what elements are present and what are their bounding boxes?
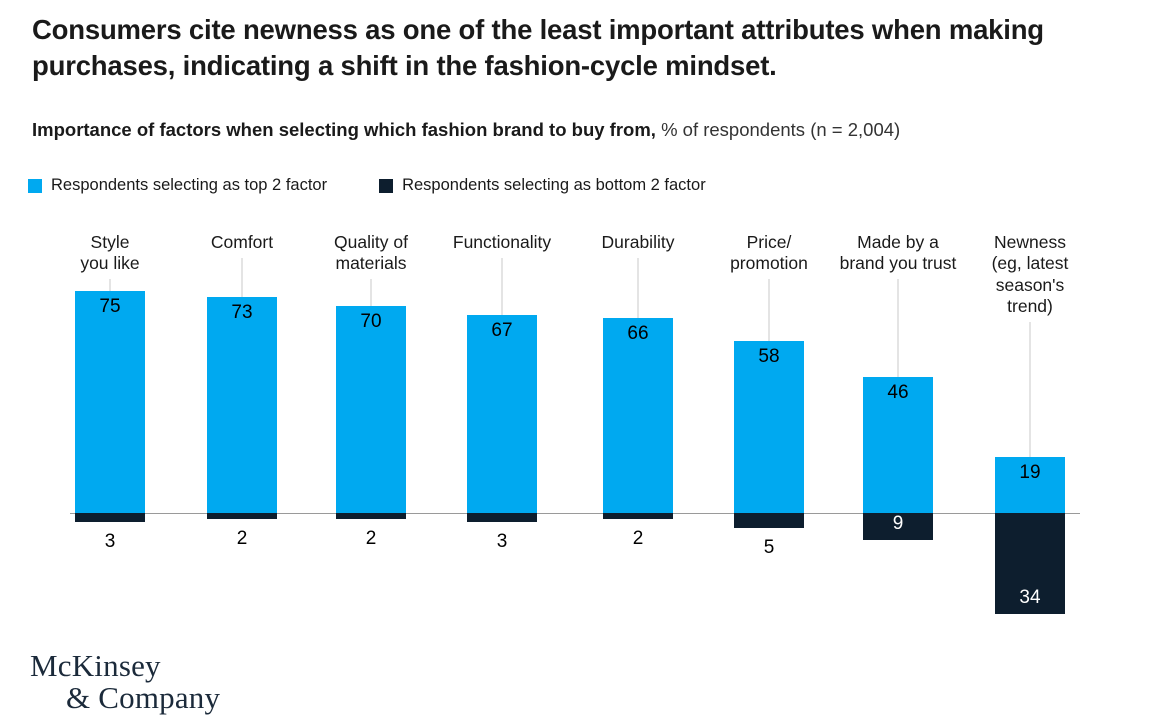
legend-swatch-top2-icon bbox=[28, 179, 42, 193]
logo-line-1: McKinsey bbox=[30, 650, 220, 682]
bar-segment-bottom2[interactable] bbox=[734, 513, 804, 528]
bar-value-bottom2: 9 bbox=[863, 514, 933, 533]
leader-line bbox=[769, 279, 770, 341]
bar-value-top2: 75 bbox=[75, 297, 145, 316]
category-label: Quality of materials bbox=[293, 232, 449, 275]
category-label: Comfort bbox=[164, 232, 320, 253]
bar-group: Quality of materials702 bbox=[293, 0, 449, 726]
bar-segment-top2[interactable]: 19 bbox=[995, 457, 1065, 513]
category-label: Durability bbox=[560, 232, 716, 253]
bar-value-top2: 67 bbox=[467, 321, 537, 340]
bar-group: Functionality673 bbox=[424, 0, 580, 726]
bar-group: Comfort732 bbox=[164, 0, 320, 726]
category-label: Made by a brand you trust bbox=[820, 232, 976, 275]
bar-value-bottom2: 2 bbox=[207, 529, 277, 548]
bar-segment-bottom2[interactable] bbox=[603, 513, 673, 519]
bar-value-top2: 73 bbox=[207, 303, 277, 322]
bar-segment-bottom2[interactable]: 9 bbox=[863, 513, 933, 540]
plot-area: Style you like753Comfort732Quality of ma… bbox=[0, 0, 1160, 726]
bar-value-top2: 66 bbox=[603, 324, 673, 343]
chart-page: Consumers cite newness as one of the lea… bbox=[0, 0, 1160, 726]
bar-value-top2: 19 bbox=[995, 463, 1065, 482]
leader-line bbox=[638, 258, 639, 318]
legend-item-top2: Respondents selecting as top 2 factor bbox=[28, 176, 327, 195]
leader-line bbox=[1030, 322, 1031, 457]
subtitle-bold: Importance of factors when selecting whi… bbox=[32, 119, 656, 140]
legend-swatch-bottom2-icon bbox=[379, 179, 393, 193]
category-label: Functionality bbox=[424, 232, 580, 253]
bar-group: Style you like753 bbox=[32, 0, 188, 726]
mckinsey-logo: McKinsey & Company bbox=[30, 650, 220, 714]
bar-value-top2: 70 bbox=[336, 312, 406, 331]
leader-line bbox=[242, 258, 243, 297]
bar-group: Durability662 bbox=[560, 0, 716, 726]
bar-segment-top2[interactable]: 58 bbox=[734, 341, 804, 513]
bar-value-bottom2: 3 bbox=[75, 532, 145, 551]
bar-segment-bottom2[interactable] bbox=[207, 513, 277, 519]
category-label: Style you like bbox=[32, 232, 188, 275]
bar-segment-top2[interactable]: 70 bbox=[336, 306, 406, 513]
bar-value-top2: 58 bbox=[734, 347, 804, 366]
leader-line bbox=[110, 279, 111, 291]
category-label: Price/ promotion bbox=[691, 232, 847, 275]
legend-label-top2: Respondents selecting as top 2 factor bbox=[51, 176, 327, 195]
bar-segment-top2[interactable]: 66 bbox=[603, 318, 673, 513]
bar-segment-bottom2[interactable] bbox=[336, 513, 406, 519]
bar-group: Made by a brand you trust469 bbox=[820, 0, 976, 726]
legend-label-bottom2: Respondents selecting as bottom 2 factor bbox=[402, 176, 706, 195]
legend-item-bottom2: Respondents selecting as bottom 2 factor bbox=[379, 176, 706, 195]
bar-segment-bottom2[interactable] bbox=[75, 513, 145, 522]
bar-value-bottom2: 3 bbox=[467, 532, 537, 551]
bar-value-bottom2: 2 bbox=[336, 529, 406, 548]
bar-value-bottom2: 5 bbox=[734, 538, 804, 557]
bar-group: Newness (eg, latest season's trend)1934 bbox=[952, 0, 1108, 726]
chart-legend: Respondents selecting as top 2 factor Re… bbox=[28, 176, 706, 195]
page-title: Consumers cite newness as one of the lea… bbox=[32, 12, 1122, 84]
zero-axis-line bbox=[70, 513, 1080, 514]
leader-line bbox=[898, 279, 899, 377]
chart-subtitle: Importance of factors when selecting whi… bbox=[32, 118, 1132, 141]
bar-value-bottom2: 34 bbox=[995, 588, 1065, 607]
leader-line bbox=[502, 258, 503, 315]
category-label: Newness (eg, latest season's trend) bbox=[952, 232, 1108, 317]
subtitle-regular: % of respondents (n = 2,004) bbox=[661, 119, 900, 140]
bar-segment-bottom2[interactable] bbox=[467, 513, 537, 522]
bar-group: Price/ promotion585 bbox=[691, 0, 847, 726]
bar-value-bottom2: 2 bbox=[603, 529, 673, 548]
bar-segment-top2[interactable]: 73 bbox=[207, 297, 277, 513]
bar-segment-bottom2[interactable]: 34 bbox=[995, 513, 1065, 614]
bar-chart: Style you like753Comfort732Quality of ma… bbox=[0, 0, 1160, 726]
bar-segment-top2[interactable]: 75 bbox=[75, 291, 145, 513]
leader-line bbox=[371, 279, 372, 306]
bar-value-top2: 46 bbox=[863, 383, 933, 402]
bar-segment-top2[interactable]: 46 bbox=[863, 377, 933, 513]
logo-line-2: & Company bbox=[66, 682, 220, 714]
bar-segment-top2[interactable]: 67 bbox=[467, 315, 537, 513]
